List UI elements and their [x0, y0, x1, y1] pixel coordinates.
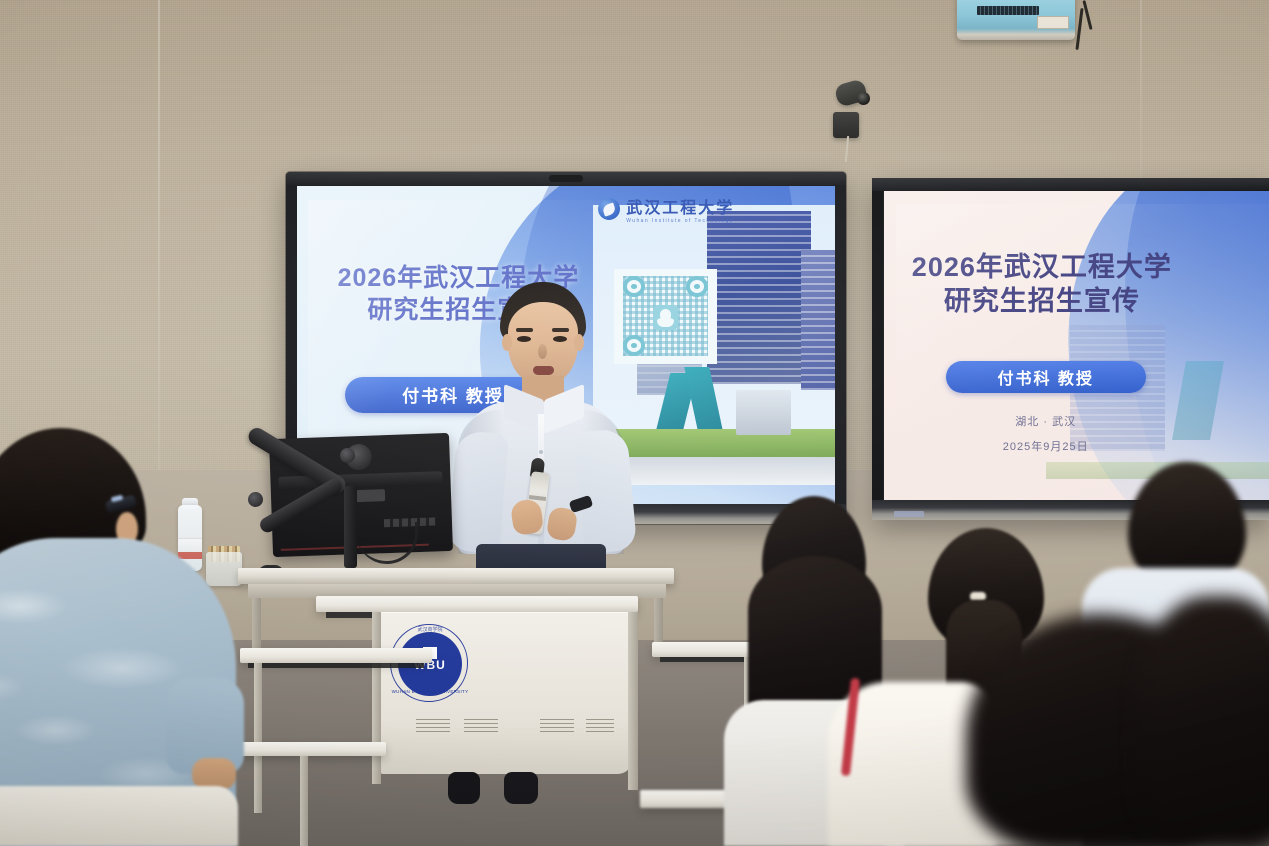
classroom-presentation-photo: 武汉工程大学 Wuhan Institute of Technology 202…	[0, 0, 1269, 846]
photo-vignette	[0, 0, 1269, 846]
